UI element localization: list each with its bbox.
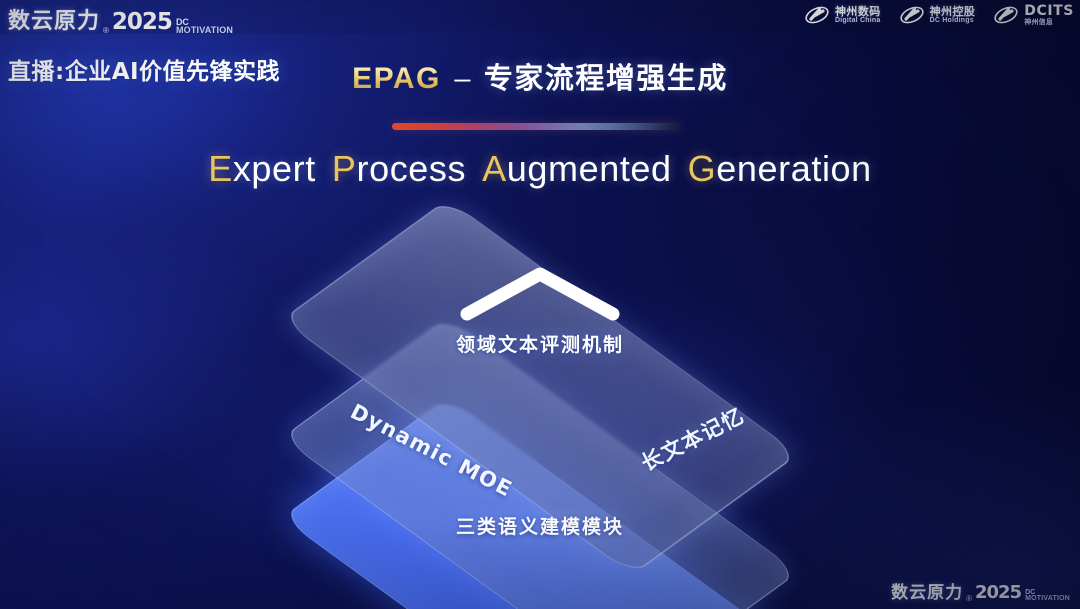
expanded-acronym-phrase: ExpertProcessAugmentedGeneration	[0, 148, 1080, 190]
partner-label: 神州控股 DC Holdings	[930, 6, 976, 25]
partner-name-en: DC Holdings	[930, 17, 976, 24]
brand-name-cn: 数云原力	[8, 3, 100, 35]
phrase-initial: P	[332, 148, 357, 189]
phrase-word-generation: Generation	[688, 148, 872, 189]
brand-year: 2025	[112, 9, 172, 35]
brand-dc-motivation: DC MOTIVATION	[176, 18, 233, 35]
phrase-word-expert: Expert	[208, 148, 316, 189]
swoosh-icon	[899, 4, 925, 26]
title-acronym: EPAG	[352, 62, 441, 95]
gradient-divider	[392, 123, 680, 130]
phrase-initial: A	[482, 148, 507, 189]
brand-dc-line2: MOTIVATION	[1025, 596, 1070, 603]
chevron-up-icon	[455, 262, 625, 324]
brand-year: 2025	[975, 582, 1021, 603]
registered-mark: ®	[966, 594, 972, 603]
stack-label-top: 领域文本评测机制	[0, 330, 1080, 357]
registered-mark: ®	[103, 26, 109, 35]
phrase-word-augmented: Augmented	[482, 148, 672, 189]
swoosh-icon	[804, 4, 830, 26]
partner-name-cn: 神州数码	[835, 6, 881, 18]
phrase-remainder: rocess	[356, 148, 466, 189]
phrase-remainder: eneration	[716, 148, 872, 189]
partner-dcits: DCITS 神州信息	[993, 4, 1074, 26]
partner-name-cn: 神州控股	[930, 6, 976, 18]
partner-name-cn: 神州信息	[1024, 19, 1074, 26]
partner-name-en: Digital China	[835, 17, 881, 24]
partner-logos: 神州数码 Digital China 神州控股 DC Holdings DCIT…	[804, 4, 1074, 26]
partner-name-brand: DCITS	[1024, 4, 1074, 19]
phrase-remainder: ugmented	[507, 148, 672, 189]
layer-stack-diagram: 领域文本评测机制 Dynamic MOE 长文本记忆 三类语义建模模块	[0, 222, 1080, 592]
brand-name-cn: 数云原力	[891, 578, 963, 603]
page-title: EPAG – 专家流程增强生成	[0, 55, 1080, 97]
title-chinese: 专家流程增强生成	[484, 61, 728, 95]
partner-label: DCITS 神州信息	[1024, 4, 1074, 26]
partner-dc-holdings: 神州控股 DC Holdings	[899, 4, 976, 26]
stack-label-bottom: 三类语义建模模块	[0, 512, 1080, 539]
partner-label: 神州数码 Digital China	[835, 6, 881, 25]
phrase-word-process: Process	[332, 148, 466, 189]
brand-logo: 数云原力 ® 2025 DC MOTIVATION	[8, 3, 233, 35]
swoosh-icon	[993, 4, 1019, 26]
partner-digital-china: 神州数码 Digital China	[804, 4, 881, 26]
phrase-initial: G	[688, 148, 717, 189]
phrase-remainder: xpert	[233, 148, 316, 189]
title-dash: –	[454, 63, 470, 95]
brand-watermark: 数云原力 ® 2025 DC MOTIVATION	[891, 578, 1070, 603]
brand-dc-line2: MOTIVATION	[176, 26, 233, 35]
brand-dc-motivation: DC MOTIVATION	[1025, 590, 1070, 603]
phrase-initial: E	[208, 148, 233, 189]
